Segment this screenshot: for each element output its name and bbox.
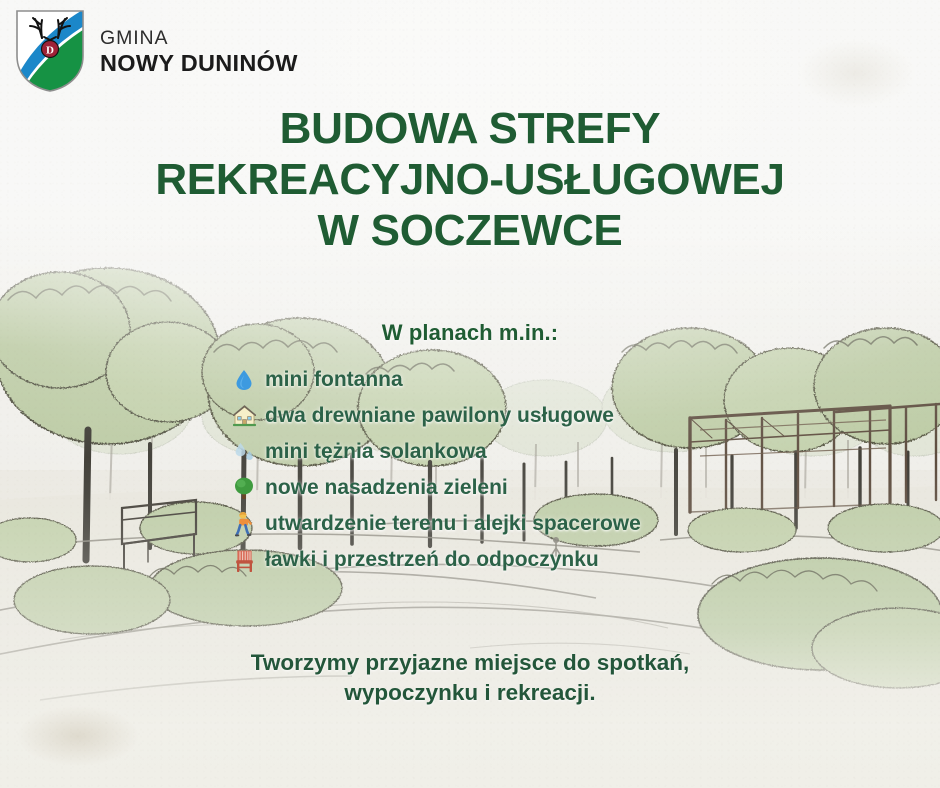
sweat-droplets-icon xyxy=(232,440,256,464)
list-item-label: nowe nasadzenia zieleni xyxy=(265,476,508,500)
list-item: mini fontanna xyxy=(232,362,641,398)
title-line-1: BUDOWA STREFY xyxy=(0,103,940,154)
list-item: mini tężnia solankowa xyxy=(232,434,641,470)
municipality-wordmark: GMINA NOWY DUNINÓW xyxy=(100,27,298,75)
plans-heading: W planach m.in.: xyxy=(0,320,940,346)
deciduous-tree-icon xyxy=(232,476,256,500)
title-line-3: W SOCZEWCE xyxy=(0,205,940,256)
list-item: ławki i przestrzeń do odpoczynku xyxy=(232,542,641,578)
closing-line-1: Tworzymy przyjazne miejsce do spotkań, xyxy=(0,648,940,678)
list-item-label: ławki i przestrzeń do odpoczynku xyxy=(265,548,599,572)
list-item-label: utwardzenie terenu i alejki spacerowe xyxy=(265,512,641,536)
chair-icon xyxy=(232,548,256,572)
poster-content: BUDOWA STREFY REKREACYJNO-USŁUGOWEJ W SO… xyxy=(0,0,940,788)
wordmark-line-name: NOWY DUNINÓW xyxy=(100,52,298,76)
list-item-label: mini fontanna xyxy=(265,368,403,392)
closing-line-2: wypoczynku i rekreacji. xyxy=(0,678,940,708)
list-item: dwa drewniane pawilony usługowe xyxy=(232,398,641,434)
house-icon xyxy=(232,404,256,428)
plans-list: mini fontanna dwa drewniane pawilony usł… xyxy=(232,362,641,578)
municipality-logo-lockup: D GMINA NOWY DUNINÓW xyxy=(14,8,298,94)
coat-of-arms-shield-icon: D xyxy=(14,8,86,94)
shield-charge-letter: D xyxy=(46,44,54,56)
list-item-label: dwa drewniane pawilony usługowe xyxy=(265,404,614,428)
title-line-2: REKREACYJNO-USŁUGOWEJ xyxy=(0,154,940,205)
water-droplet-icon xyxy=(232,368,256,392)
page-title: BUDOWA STREFY REKREACYJNO-USŁUGOWEJ W SO… xyxy=(0,103,940,256)
wordmark-line-gmina: GMINA xyxy=(100,29,298,49)
list-item: nowe nasadzenia zieleni xyxy=(232,470,641,506)
closing-statement: Tworzymy przyjazne miejsce do spotkań, w… xyxy=(0,648,940,708)
list-item: utwardzenie terenu i alejki spacerowe xyxy=(232,506,641,542)
walking-person-icon xyxy=(232,512,256,536)
list-item-label: mini tężnia solankowa xyxy=(265,440,487,464)
poster-canvas: D GMINA NOWY DUNINÓW BUDOWA STREFY REKRE… xyxy=(0,0,940,788)
